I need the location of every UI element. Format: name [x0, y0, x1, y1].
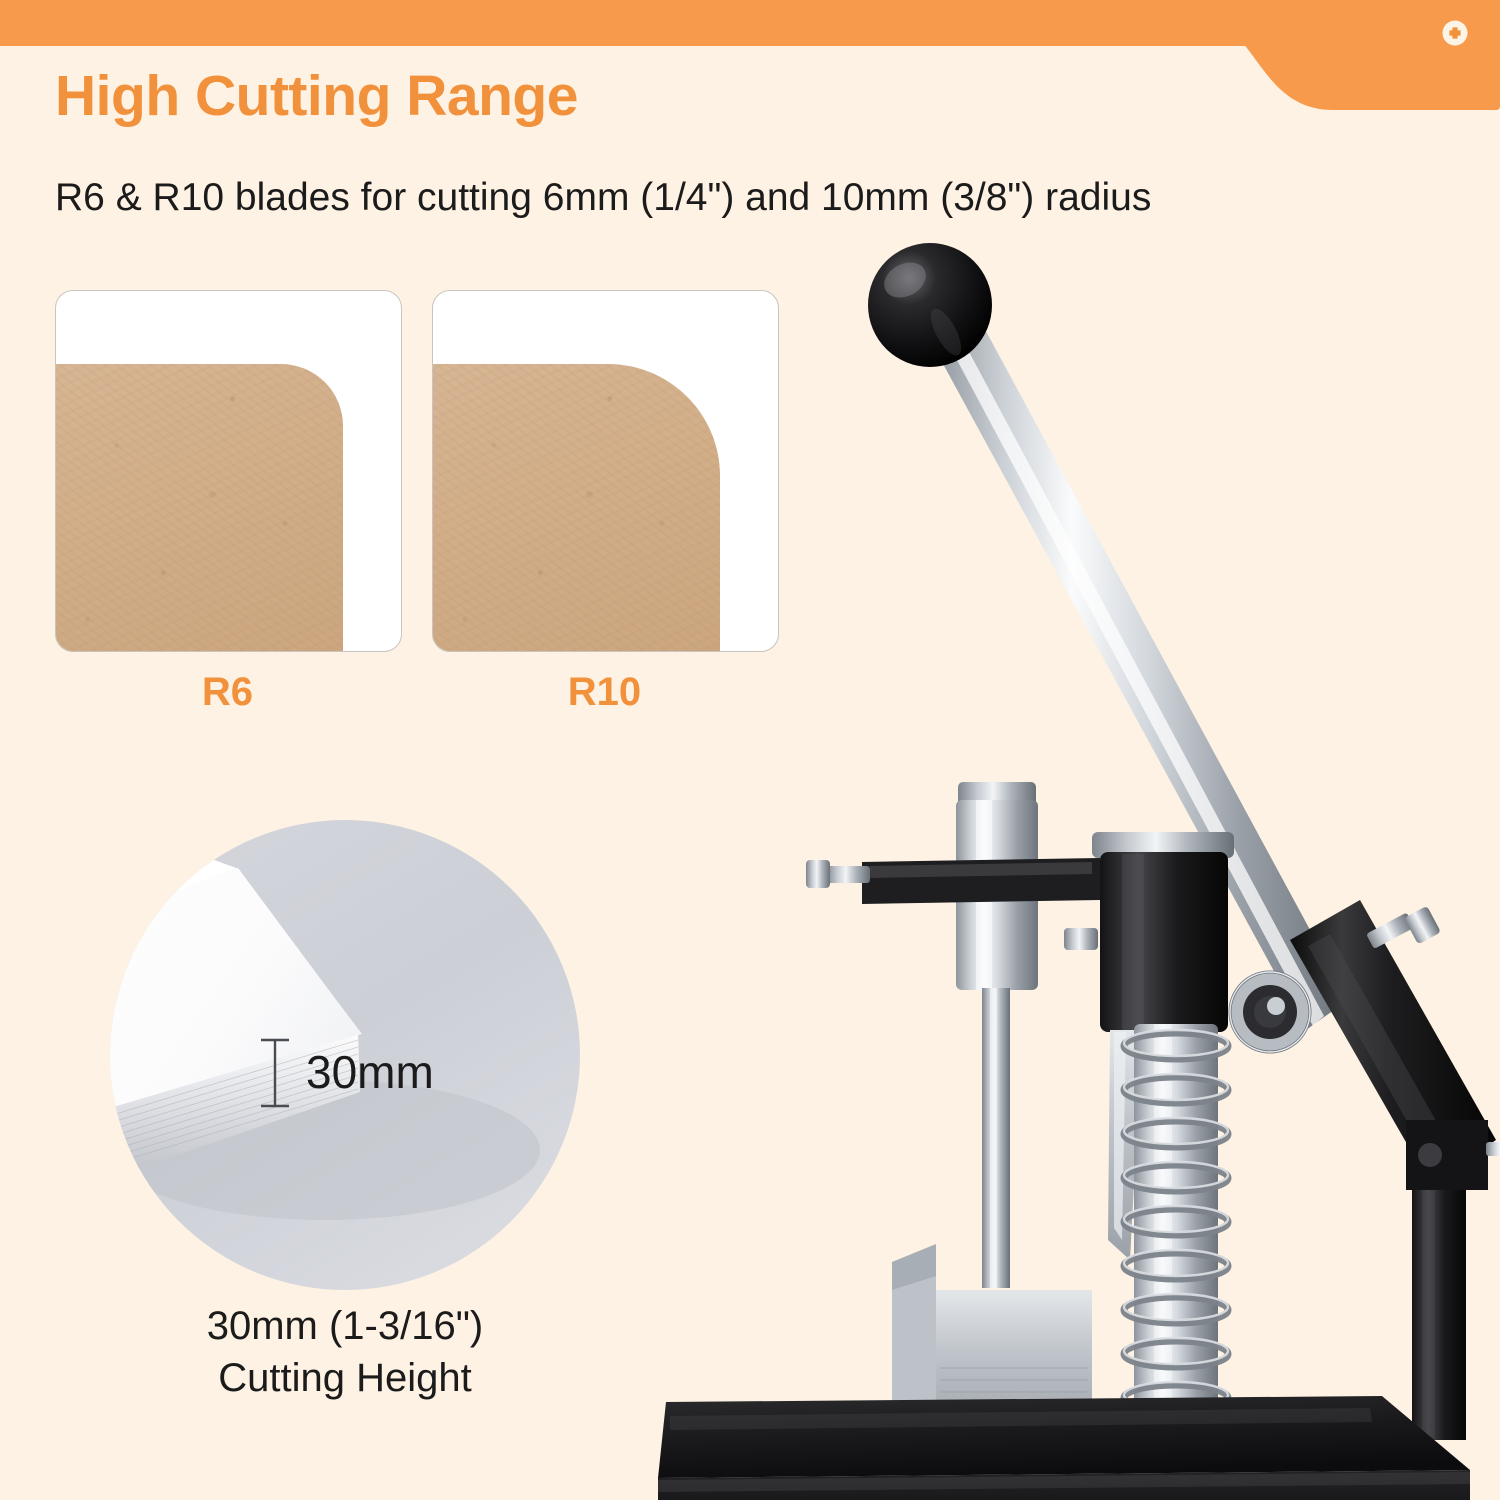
infographic-page: High Cutting Range R6 & R10 blades for c… [0, 0, 1500, 1500]
pivot-bearing [1230, 972, 1310, 1052]
paper-stack-photo: 30mm [110, 820, 580, 1290]
die-cylinder [806, 782, 1100, 1288]
cutting-height-caption: 30mm (1-3/16") Cutting Height [60, 1300, 630, 1404]
handle-knob [868, 243, 992, 367]
sample-label-r6: R6 [55, 672, 400, 712]
rounded-corner-sample-icon [55, 364, 343, 652]
plus-circle-icon[interactable] [1440, 18, 1470, 48]
sleeve-bolt [1366, 906, 1441, 949]
caption-line-1: 30mm (1-3/16") [60, 1300, 630, 1352]
corner-rounder-machine-photo [630, 240, 1500, 1500]
support-post [1406, 1120, 1500, 1440]
dimension-value: 30mm [306, 1046, 434, 1098]
page-subtitle: R6 & R10 blades for cutting 6mm (1/4") a… [55, 178, 1151, 217]
page-title: High Cutting Range [55, 68, 578, 125]
base-plate [658, 1396, 1470, 1500]
spring-assembly [1124, 1024, 1228, 1449]
sample-card-r6 [55, 290, 402, 652]
caption-line-2: Cutting Height [60, 1352, 630, 1404]
